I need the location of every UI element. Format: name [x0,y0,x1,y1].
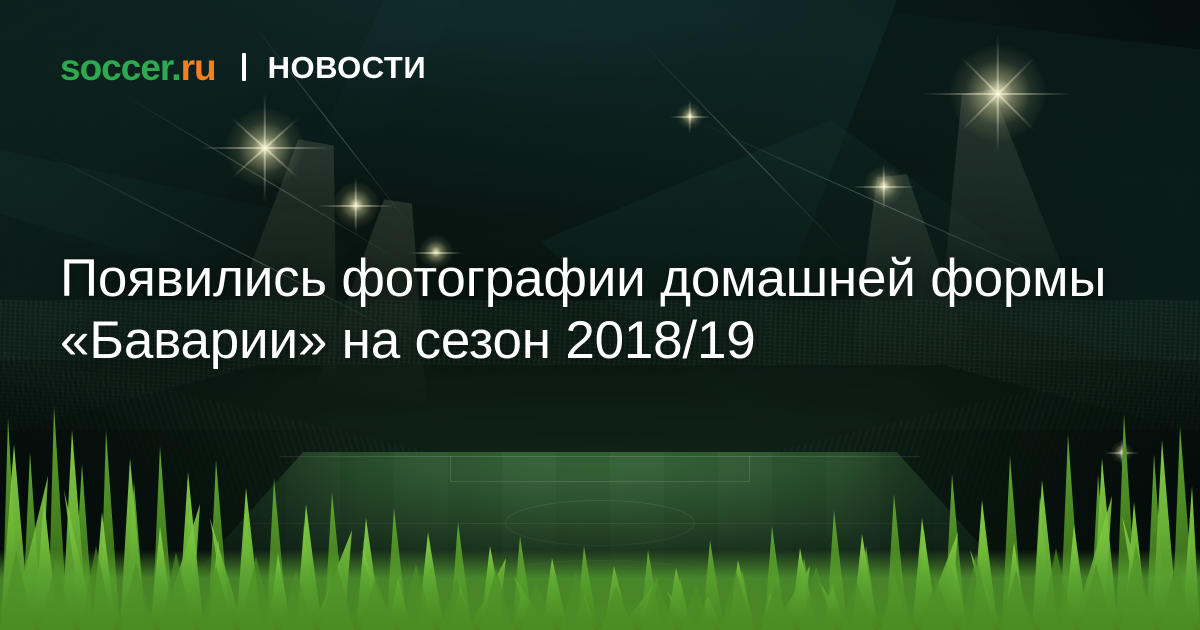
news-share-card: soccer.ru НОВОСТИ Появились фотографии д… [0,0,1200,630]
soccer-ru-logo[interactable]: soccer.ru [60,49,216,86]
header-separator [242,53,246,81]
grass-foreground [0,400,1200,630]
site-header: soccer.ru НОВОСТИ [60,44,426,90]
article-headline: Появились фотографии домашней формы «Бав… [60,248,1140,372]
section-title: НОВОСТИ [268,52,427,83]
logo-tld: ru [181,47,216,88]
logo-name: soccer [60,47,171,88]
logo-dot: . [171,47,180,88]
